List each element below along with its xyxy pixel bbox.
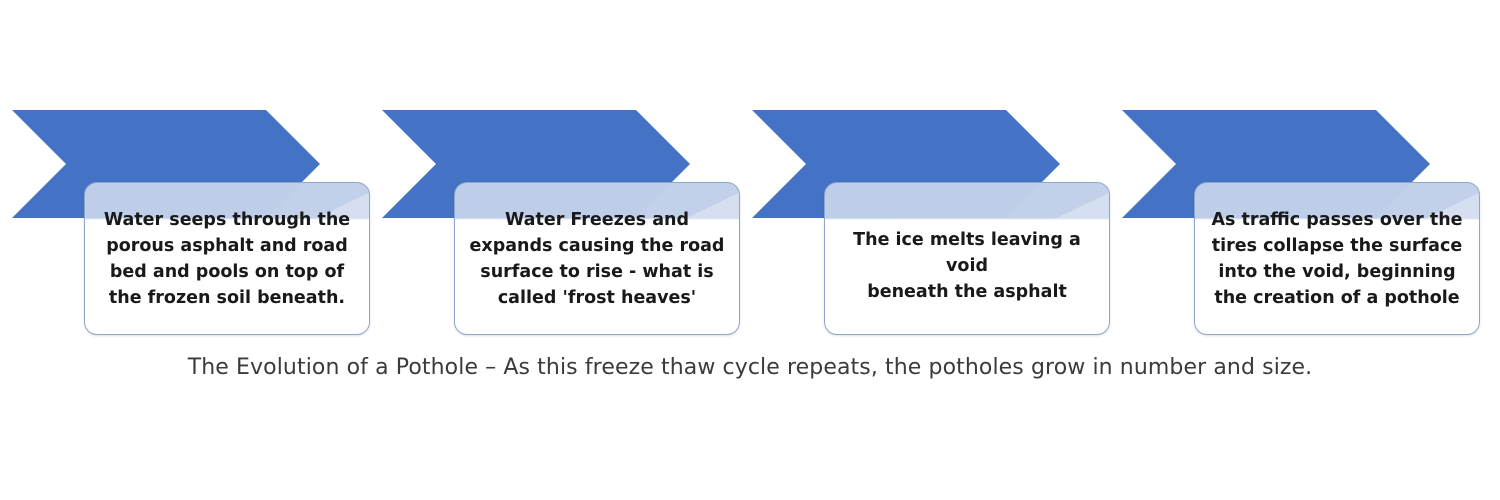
stage-3-text-line-1: The ice melts leaving a void	[835, 227, 1099, 279]
stage-2-text-line-2: expands causing the road	[465, 233, 729, 259]
process-stage-1[interactable]: Water seeps through the porous asphalt a…	[0, 0, 400, 345]
stage-2-callout-card[interactable]: Water Freezes and expands causing the ro…	[454, 182, 740, 335]
stage-4-callout-card[interactable]: As traffic passes over the tires collaps…	[1194, 182, 1480, 335]
stage-2-text-line-1: Water Freezes and	[465, 207, 729, 233]
process-chevron-row: Water seeps through the porous asphalt a…	[0, 0, 1500, 345]
process-stage-2[interactable]: Water Freezes and expands causing the ro…	[370, 0, 770, 345]
process-stage-3[interactable]: The ice melts leaving a void beneath the…	[740, 0, 1140, 345]
diagram-caption: The Evolution of a Pothole – As this fre…	[0, 352, 1500, 384]
pothole-evolution-diagram: Water seeps through the porous asphalt a…	[0, 0, 1500, 500]
stage-4-text-block: As traffic passes over the tires collaps…	[1195, 183, 1479, 334]
stage-3-callout-card[interactable]: The ice melts leaving a void beneath the…	[824, 182, 1110, 335]
process-stage-4[interactable]: As traffic passes over the tires collaps…	[1110, 0, 1500, 345]
stage-3-text-line-2: beneath the asphalt	[835, 279, 1099, 305]
stage-1-text-line-3: bed and pools on top of	[95, 259, 359, 285]
stage-2-text-block: Water Freezes and expands causing the ro…	[455, 183, 739, 334]
stage-3-text-block: The ice melts leaving a void beneath the…	[825, 183, 1109, 334]
stage-4-text-line-1: As traffic passes over the	[1205, 207, 1469, 233]
stage-1-text-block: Water seeps through the porous asphalt a…	[85, 183, 369, 334]
stage-1-text-line-1: Water seeps through the	[95, 207, 359, 233]
stage-1-text-line-2: porous asphalt and road	[95, 233, 359, 259]
stage-4-text-line-3: into the void, beginning	[1205, 259, 1469, 285]
stage-1-text-line-4: the frozen soil beneath.	[95, 285, 359, 311]
stage-4-text-line-2: tires collapse the surface	[1205, 233, 1469, 259]
stage-2-text-line-4: called 'frost heaves'	[465, 285, 729, 311]
stage-2-text-line-3: surface to rise - what is	[465, 259, 729, 285]
stage-4-text-line-4: the creation of a pothole	[1205, 285, 1469, 311]
stage-1-callout-card[interactable]: Water seeps through the porous asphalt a…	[84, 182, 370, 335]
